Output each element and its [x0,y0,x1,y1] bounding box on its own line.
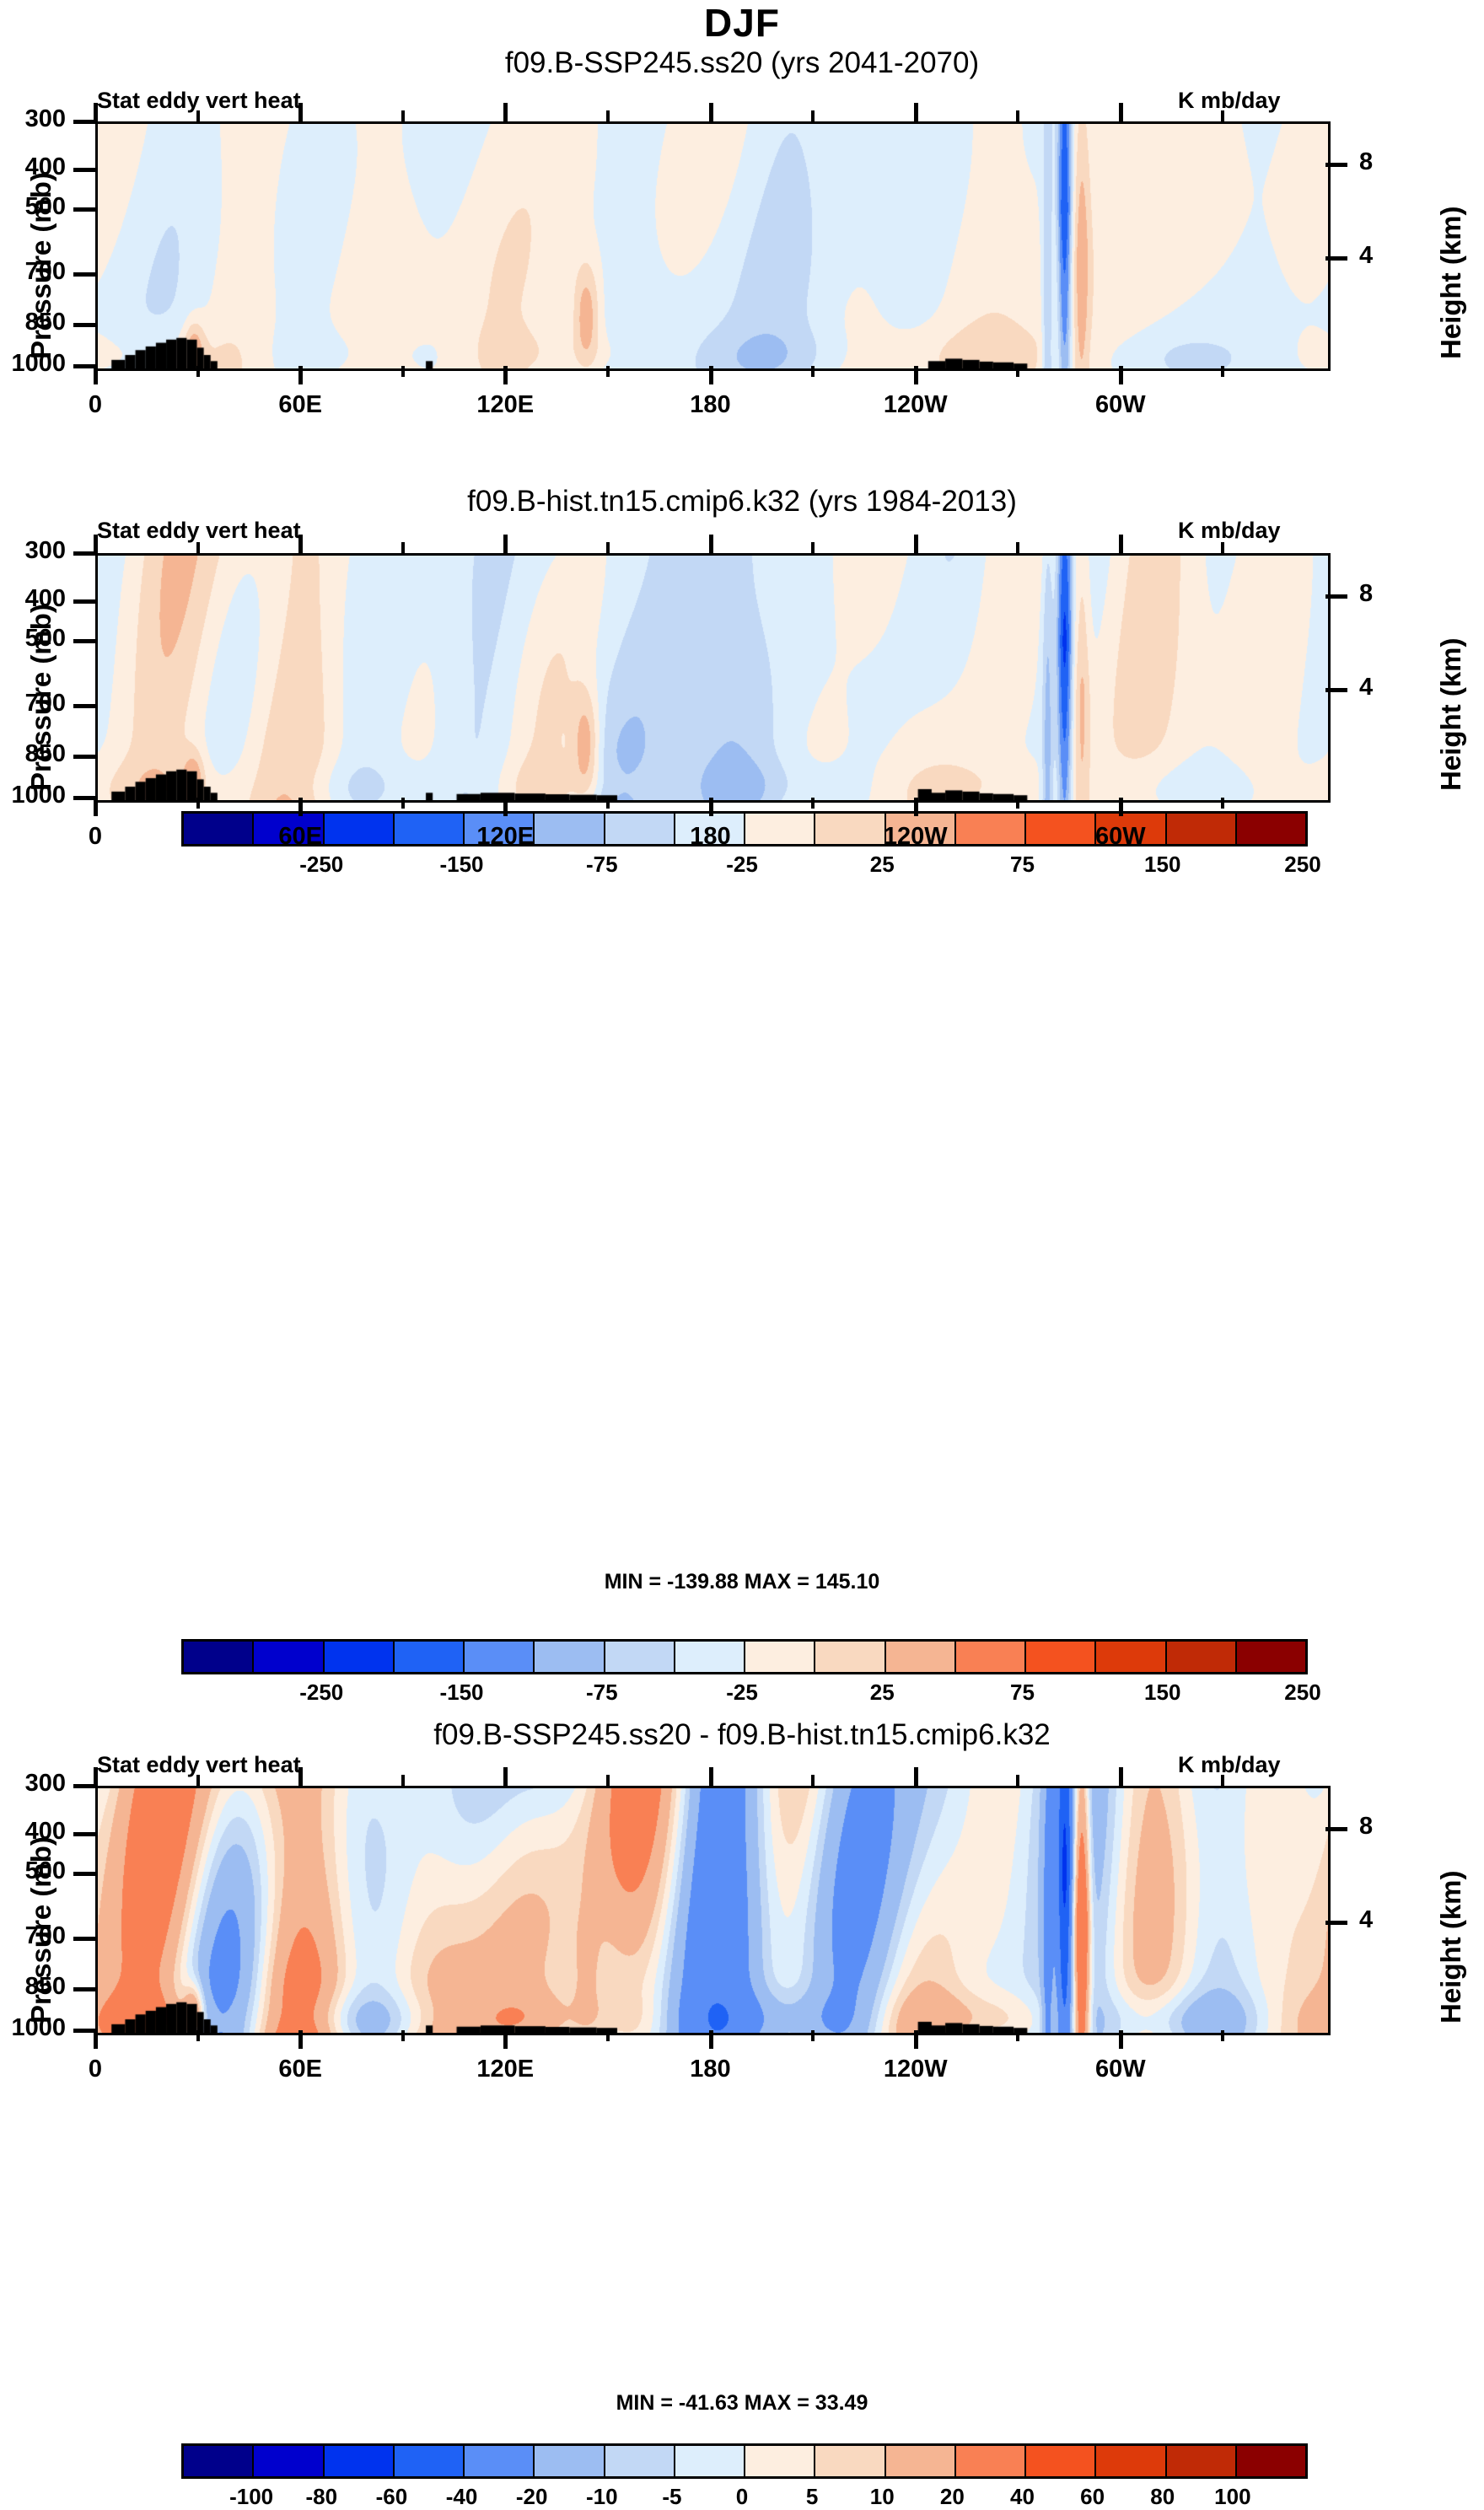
x-tick-mark [503,798,508,816]
x-tick-label: 60W [1053,391,1188,419]
colorbar-tick-label: -40 [446,2484,478,2510]
x-tick-mark-top [709,535,713,553]
y-tick-mark [73,704,95,708]
colorbar-segment [1026,2446,1096,2476]
x-tick-mark-top [298,535,303,553]
y-tick-mark [73,2029,95,2033]
colorbar-segment [675,2446,745,2476]
x-tick-mark [298,2030,303,2049]
colorbar-tick-label: 150 [1144,1680,1180,1706]
colorbar-tick-label: -10 [586,2484,618,2510]
x-tick-mark [914,366,918,384]
colorbar-segment [1237,2446,1305,2476]
colorbar-segment [605,1642,675,1672]
y-tick-mark [73,796,95,800]
x-tick-label: 60E [233,391,368,419]
colorbar-segment [184,2446,254,2476]
units-label: K mb/day [1178,88,1281,114]
x-tick-mark [1119,2030,1123,2049]
x-tick-mark [709,798,713,816]
y-tick-mark [73,120,95,124]
x-minor-tick-top [196,542,200,553]
colorbar-tick-label: 0 [736,2484,748,2510]
x-tick-mark-top [1119,1767,1123,1786]
y-tick-label: 700 [0,1922,66,1950]
colorbar-segment [254,1642,324,1672]
panel-title: f09.B-SSP245.ss20 (yrs 2041-2070) [0,46,1484,80]
x-minor-tick-top [811,542,815,553]
x-tick-label: 60E [233,823,368,851]
x-tick-mark [914,2030,918,2049]
x-tick-mark-top [709,103,713,121]
colorbar-segment [535,1642,605,1672]
colorbar-tick-label: -250 [299,1680,343,1706]
x-minor-tick [1016,2030,1019,2041]
x-minor-tick-top [811,110,815,121]
colorbar-tick-label: 20 [940,2484,965,2510]
y-tick-label: 1000 [0,2014,66,2042]
y-tick-label: 500 [0,193,66,221]
y-axis-title-right: Height (km) [1435,1871,1467,2024]
y-tick-mark [73,323,95,327]
x-tick-label: 0 [28,2056,163,2083]
colorbar-tick-label: 80 [1150,2484,1175,2510]
y-tick-label-right: 8 [1359,1813,1410,1841]
x-tick-label: 180 [643,2056,778,2083]
colorbar-segment [1096,1642,1166,1672]
colorbar-tick-label: -80 [305,2484,337,2510]
y-axis-title-right: Height (km) [1435,638,1467,792]
colorbar-segment [184,1642,254,1672]
x-minor-tick [196,2030,200,2041]
y-tick-label: 400 [0,585,66,613]
colorbar-tick-label: 25 [870,852,895,878]
colorbar-tick-label: 5 [806,2484,818,2510]
minmax-text: MIN = -139.88 MAX = 145.10 [0,1570,1484,1594]
colorbar [181,2443,1308,2479]
figure-title: DJF [0,0,1484,46]
x-minor-tick-top [401,542,405,553]
y-tick-mark-right [1325,1827,1347,1831]
x-tick-label: 120E [438,823,573,851]
x-minor-tick-top [606,1775,610,1786]
x-minor-tick-top [1221,1775,1224,1786]
y-tick-mark [73,272,95,277]
y-tick-label: 1000 [0,350,66,378]
x-tick-mark-top [1119,535,1123,553]
x-tick-mark-top [94,535,98,553]
colorbar-tick-label: -250 [299,852,343,878]
x-tick-mark [1119,798,1123,816]
colorbar-segment [325,2446,395,2476]
x-minor-tick [606,2030,610,2041]
colorbar-tick-label: 40 [1010,2484,1035,2510]
x-tick-mark-top [94,1767,98,1786]
y-tick-mark-right [1325,256,1347,261]
colorbar-segment [254,2446,324,2476]
colorbar-tick-label: -60 [376,2484,408,2510]
colorbar [181,1639,1308,1674]
x-minor-tick [401,798,405,809]
x-minor-tick [606,798,610,809]
x-tick-label: 60W [1053,823,1188,851]
y-tick-label: 850 [0,740,66,768]
x-minor-tick-top [811,1775,815,1786]
variable-label: Stat eddy vert heat [97,518,301,544]
x-minor-tick-top [606,110,610,121]
y-tick-mark [73,168,95,172]
colorbar-tick-label: -150 [439,852,483,878]
x-tick-mark-top [914,1767,918,1786]
x-tick-mark [709,2030,713,2049]
colorbar-segment [886,1642,956,1672]
x-minor-tick [811,2030,815,2041]
x-tick-label: 0 [28,823,163,851]
x-tick-label: 60W [1053,2056,1188,2083]
x-tick-label: 120W [848,823,983,851]
units-label: K mb/day [1178,518,1281,544]
y-tick-mark-right [1325,163,1347,167]
x-minor-tick [606,366,610,377]
y-tick-mark-right [1325,688,1347,692]
x-tick-mark [914,798,918,816]
colorbar-segment [1026,1642,1096,1672]
colorbar-tick-label: -75 [586,852,618,878]
x-tick-mark [94,366,98,384]
colorbar-segment [815,2446,885,2476]
x-tick-mark-top [503,103,508,121]
y-axis-title-right: Height (km) [1435,207,1467,360]
x-minor-tick [1016,366,1019,377]
y-tick-label-right: 4 [1359,1906,1410,1934]
colorbar-segment [675,1642,745,1672]
x-tick-mark-top [94,103,98,121]
x-minor-tick-top [1016,110,1019,121]
y-tick-mark-right [1325,1921,1347,1925]
colorbar-tick-label: 75 [1010,852,1035,878]
colorbar-tick-label: -75 [586,1680,618,1706]
colorbar-segment [1237,814,1305,844]
panel-title: f09.B-hist.tn15.cmip6.k32 (yrs 1984-2013… [0,485,1484,519]
x-minor-tick [196,366,200,377]
x-minor-tick-top [1221,542,1224,553]
colorbar-tick-label: 150 [1144,852,1180,878]
x-minor-tick [1221,2030,1224,2041]
x-tick-mark-top [503,535,508,553]
y-tick-label-right: 8 [1359,148,1410,176]
contour-plot [95,121,1331,371]
y-tick-label: 300 [0,1770,66,1798]
x-tick-mark [503,2030,508,2049]
x-tick-label: 180 [643,391,778,419]
x-tick-mark [94,798,98,816]
x-tick-label: 180 [643,823,778,851]
colorbar-segment [815,1642,885,1672]
x-minor-tick [811,366,815,377]
x-minor-tick [196,798,200,809]
colorbar-tick-label: -5 [662,2484,681,2510]
y-tick-label: 1000 [0,782,66,809]
colorbar-tick-label: -25 [726,852,758,878]
colorbar-tick-label: 250 [1284,852,1320,878]
colorbar-tick-label: -20 [516,2484,548,2510]
colorbar-segment [886,2446,956,2476]
y-tick-label: 500 [0,1857,66,1885]
x-minor-tick-top [1221,110,1224,121]
colorbar-segment [745,1642,815,1672]
colorbar-tick-label: 250 [1284,1680,1320,1706]
x-tick-label: 60E [233,2056,368,2083]
colorbar-segment [395,2446,465,2476]
y-tick-mark [73,1784,95,1788]
colorbar-segment [395,1642,465,1672]
x-tick-mark-top [1119,103,1123,121]
colorbar-tick-label: 25 [870,1680,895,1706]
colorbar-tick-label: 100 [1214,2484,1250,2510]
colorbar-tick-label: 60 [1080,2484,1105,2510]
y-tick-label: 300 [0,105,66,133]
colorbar-segment [1167,2446,1237,2476]
x-tick-mark-top [298,103,303,121]
x-tick-mark [298,366,303,384]
x-tick-mark [298,798,303,816]
y-tick-label: 850 [0,309,66,336]
colorbar-segment [465,1642,535,1672]
y-tick-mark [73,1872,95,1876]
y-tick-label: 300 [0,537,66,565]
x-minor-tick-top [401,1775,405,1786]
y-tick-label: 400 [0,153,66,181]
colorbar-segment [535,2446,605,2476]
x-tick-label: 120E [438,2056,573,2083]
colorbar-segment [465,2446,535,2476]
x-minor-tick [1221,798,1224,809]
y-tick-label-right: 4 [1359,674,1410,701]
colorbar-segment [1237,1642,1305,1672]
colorbar-segment [1167,1642,1237,1672]
y-tick-mark [73,364,95,368]
colorbar-segment [956,2446,1026,2476]
x-tick-label: 120W [848,2056,983,2083]
y-tick-label: 700 [0,690,66,718]
y-tick-mark [73,755,95,759]
colorbar-tick-label: 10 [870,2484,895,2510]
y-tick-mark [73,207,95,212]
y-tick-label: 400 [0,1818,66,1846]
x-tick-mark [709,366,713,384]
panel-title: f09.B-SSP245.ss20 - f09.B-hist.tn15.cmip… [0,1718,1484,1752]
y-tick-mark [73,1937,95,1941]
x-minor-tick [1016,798,1019,809]
x-minor-tick-top [401,110,405,121]
y-tick-mark [73,1987,95,1991]
x-minor-tick-top [196,110,200,121]
x-tick-mark [94,2030,98,2049]
colorbar-tick-label: -25 [726,1680,758,1706]
x-minor-tick-top [196,1775,200,1786]
x-minor-tick-top [1016,1775,1019,1786]
colorbar-segment [956,1642,1026,1672]
units-label: K mb/day [1178,1752,1281,1778]
y-tick-label: 850 [0,1973,66,2001]
contour-plot [95,553,1331,803]
x-minor-tick [1221,366,1224,377]
x-minor-tick-top [1016,542,1019,553]
y-tick-mark [73,639,95,643]
minmax-text: MIN = -41.63 MAX = 33.49 [0,2391,1484,2416]
x-tick-label: 120W [848,391,983,419]
x-minor-tick [401,366,405,377]
y-tick-mark [73,551,95,556]
colorbar-tick-label: 75 [1010,1680,1035,1706]
y-tick-mark [73,1832,95,1836]
y-tick-label: 700 [0,258,66,286]
x-tick-label: 0 [28,391,163,419]
colorbar-segment [1096,2446,1166,2476]
x-tick-mark-top [503,1767,508,1786]
y-tick-label-right: 4 [1359,242,1410,270]
y-tick-mark-right [1325,594,1347,599]
colorbar-segment [605,2446,675,2476]
colorbar-tick-label: -100 [229,2484,273,2510]
x-tick-mark [1119,366,1123,384]
x-tick-mark [503,366,508,384]
contour-plot [95,1786,1331,2035]
x-tick-mark-top [914,103,918,121]
y-tick-mark [73,599,95,604]
x-tick-label: 120E [438,391,573,419]
x-minor-tick [401,2030,405,2041]
colorbar-segment [745,2446,815,2476]
x-minor-tick-top [606,542,610,553]
colorbar-tick-label: -150 [439,1680,483,1706]
x-minor-tick [811,798,815,809]
x-tick-mark-top [709,1767,713,1786]
colorbar-segment [325,1642,395,1672]
x-tick-mark-top [914,535,918,553]
x-tick-mark-top [298,1767,303,1786]
y-tick-label-right: 8 [1359,580,1410,608]
y-tick-label: 500 [0,625,66,653]
